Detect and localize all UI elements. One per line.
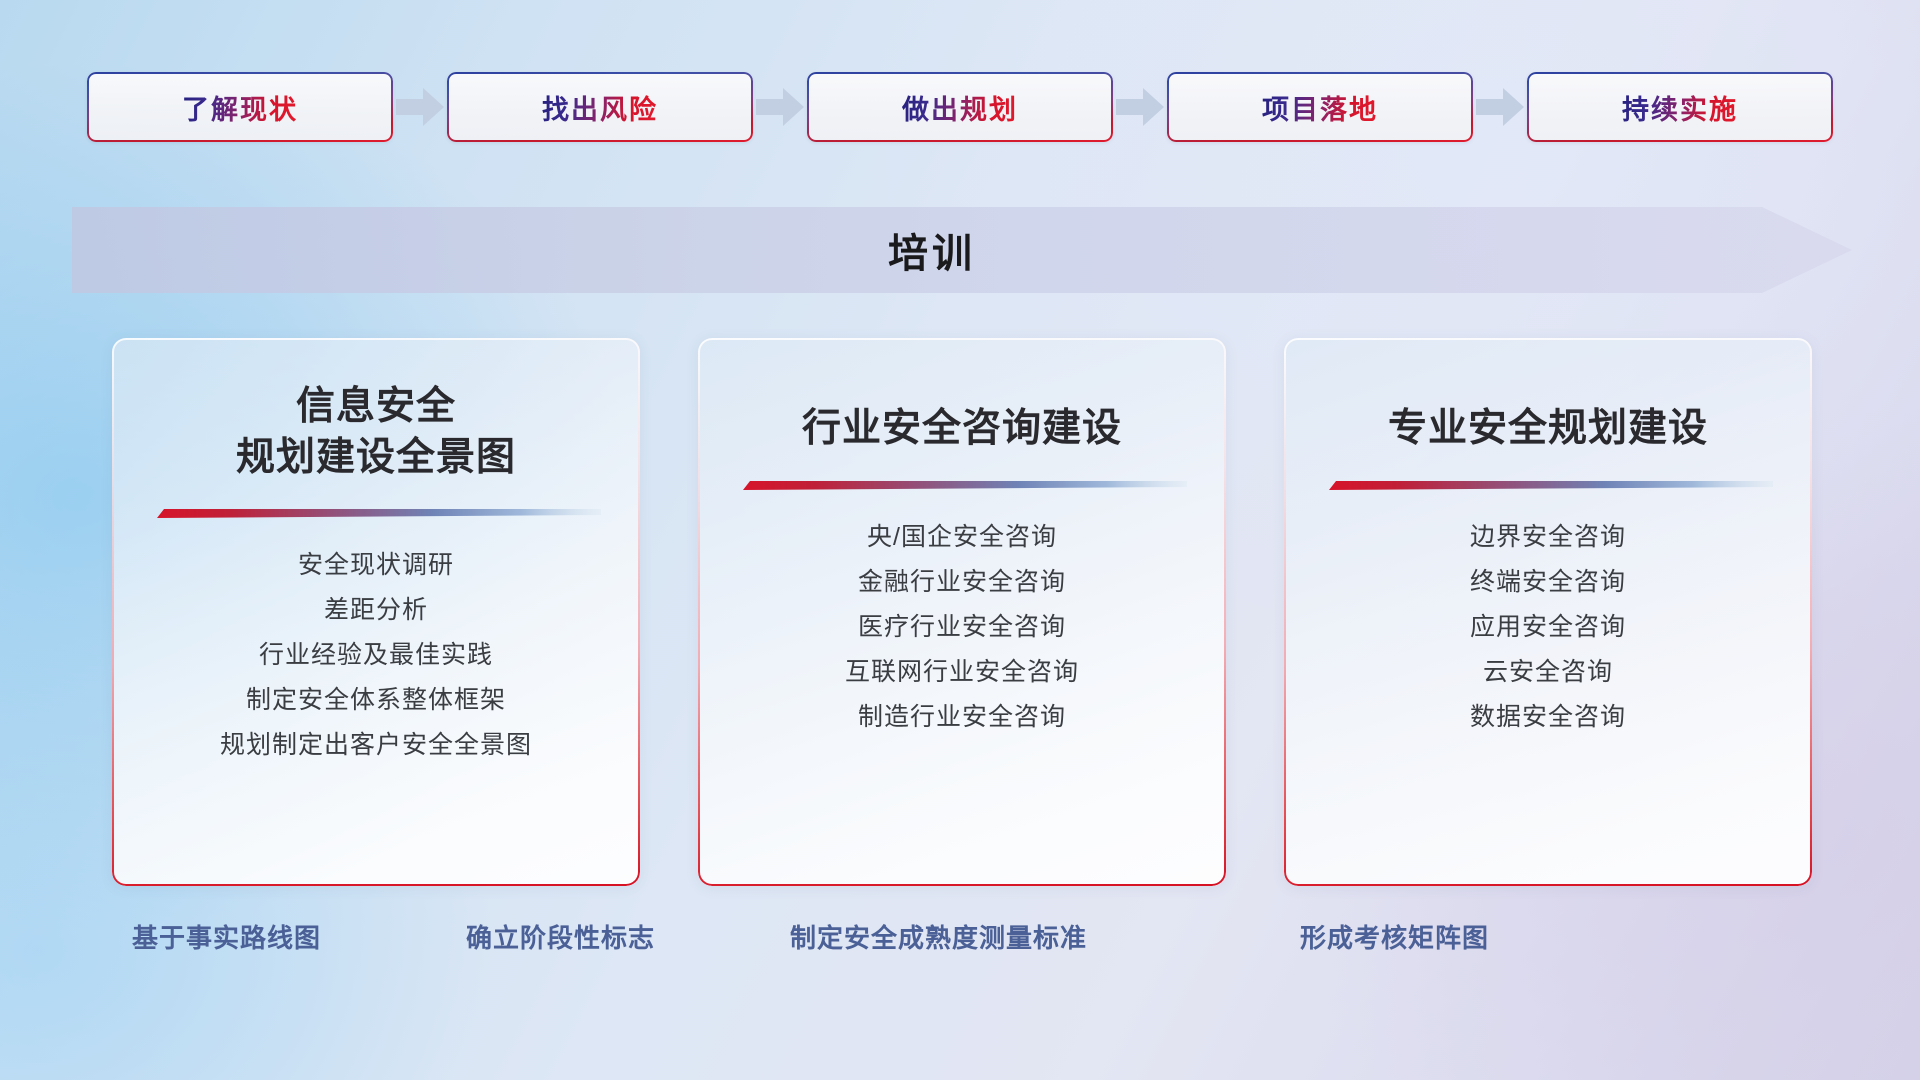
list-item: 央/国企安全咨询 — [698, 515, 1226, 560]
card-divider — [151, 509, 601, 519]
card-divider — [737, 481, 1187, 491]
list-item: 数据安全咨询 — [1284, 695, 1812, 740]
step-box-5[interactable]: 持续实施 — [1527, 72, 1833, 142]
step-label: 持续实施 — [1622, 88, 1738, 127]
step-box-1[interactable]: 了解现状 — [87, 72, 393, 142]
card-industry-security-consulting[interactable]: 行业安全咨询建设 — [698, 338, 1226, 886]
card-item-list: 央/国企安全咨询 金融行业安全咨询 医疗行业安全咨询 互联网行业安全咨询 制造行… — [698, 515, 1226, 740]
step-box-4[interactable]: 项目落地 — [1167, 72, 1473, 142]
list-item: 边界安全咨询 — [1284, 515, 1812, 560]
card-item-list: 安全现状调研 差距分析 行业经验及最佳实践 制定安全体系整体框架 规划制定出客户… — [112, 543, 640, 768]
arrow-right-icon — [1473, 72, 1527, 142]
arrow-right-icon — [1113, 72, 1167, 142]
card-divider — [1323, 481, 1773, 491]
list-item: 应用安全咨询 — [1284, 605, 1812, 650]
list-item: 金融行业安全咨询 — [698, 560, 1226, 605]
list-item: 制造行业安全咨询 — [698, 695, 1226, 740]
slide-canvas: 了解现状 找出风险 做出规划 项目落地 持续实施 — [0, 0, 1920, 1080]
footnote-label: 基于事实路线图 — [132, 918, 321, 955]
step-label: 做出规划 — [902, 88, 1018, 127]
list-item: 制定安全体系整体框架 — [112, 678, 640, 723]
card-item-list: 边界安全咨询 终端安全咨询 应用安全咨询 云安全咨询 数据安全咨询 — [1284, 515, 1812, 740]
step-label: 项目落地 — [1262, 88, 1378, 127]
step-label: 了解现状 — [182, 88, 298, 127]
list-item: 行业经验及最佳实践 — [112, 633, 640, 678]
card-title: 专业安全规划建设 — [1372, 404, 1724, 455]
step-label: 找出风险 — [542, 88, 658, 127]
footnote-label: 确立阶段性标志 — [466, 918, 655, 955]
list-item: 互联网行业安全咨询 — [698, 650, 1226, 695]
footnote-row: 基于事实路线图 确立阶段性标志 制定安全成熟度测量标准 形成考核矩阵图 — [0, 918, 1920, 968]
footnote-label: 形成考核矩阵图 — [1300, 918, 1489, 955]
arrow-right-icon — [753, 72, 807, 142]
step-box-3[interactable]: 做出规划 — [807, 72, 1113, 142]
banner-title: 培训 — [72, 207, 1792, 293]
list-item: 云安全咨询 — [1284, 650, 1812, 695]
list-item: 安全现状调研 — [112, 543, 640, 588]
card-group: 信息安全 规划建设全景图 — [112, 338, 1812, 886]
list-item: 规划制定出客户安全全景图 — [112, 723, 640, 768]
process-step-bar: 了解现状 找出风险 做出规划 项目落地 持续实施 — [0, 68, 1920, 146]
footnote-label: 制定安全成熟度测量标准 — [790, 918, 1087, 955]
card-info-security-panorama[interactable]: 信息安全 规划建设全景图 — [112, 338, 640, 886]
card-title: 信息安全 规划建设全景图 — [220, 382, 532, 483]
list-item: 差距分析 — [112, 588, 640, 633]
arrow-right-icon — [393, 72, 447, 142]
training-banner: 培训 — [72, 207, 1852, 293]
card-professional-security-planning[interactable]: 专业安全规划建设 — [1284, 338, 1812, 886]
list-item: 医疗行业安全咨询 — [698, 605, 1226, 650]
card-title: 行业安全咨询建设 — [786, 404, 1138, 455]
list-item: 终端安全咨询 — [1284, 560, 1812, 605]
step-box-2[interactable]: 找出风险 — [447, 72, 753, 142]
